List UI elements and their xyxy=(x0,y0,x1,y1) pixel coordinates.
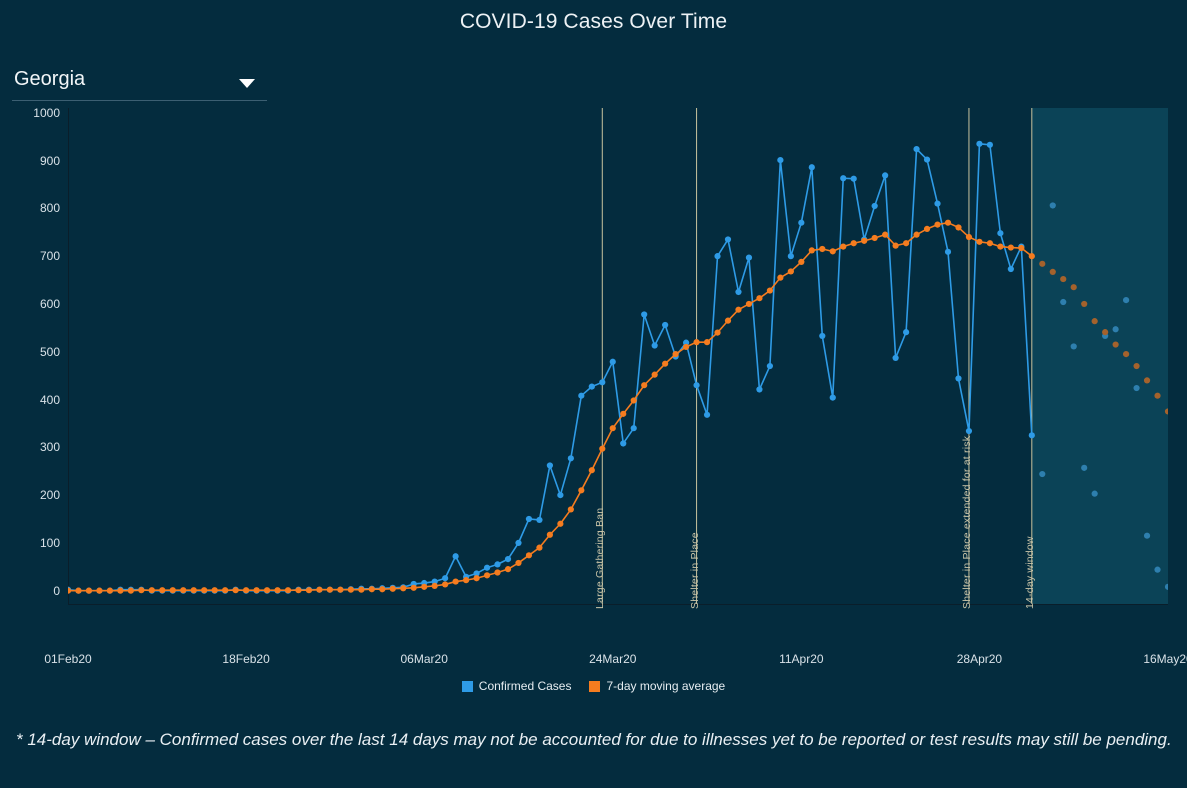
data-point[interactable] xyxy=(767,363,773,369)
data-point[interactable] xyxy=(337,587,343,593)
data-point[interactable] xyxy=(599,379,605,385)
legend-item-moving-average[interactable]: 7-day moving average xyxy=(589,679,725,693)
data-point[interactable] xyxy=(285,587,291,593)
data-point[interactable] xyxy=(1008,244,1014,250)
data-point[interactable] xyxy=(893,243,899,249)
data-point[interactable] xyxy=(86,588,92,594)
data-point[interactable] xyxy=(107,588,113,594)
data-point[interactable] xyxy=(1050,202,1056,208)
data-point[interactable] xyxy=(1123,351,1129,357)
data-point[interactable] xyxy=(641,311,647,317)
data-point[interactable] xyxy=(348,587,354,593)
data-point[interactable] xyxy=(526,552,532,558)
legend-label-confirmed: Confirmed Cases xyxy=(479,679,572,693)
data-point[interactable] xyxy=(505,566,511,572)
data-point[interactable] xyxy=(358,587,364,593)
x-tick-label: 11Apr20 xyxy=(779,652,823,666)
data-point[interactable] xyxy=(756,386,762,392)
data-point[interactable] xyxy=(212,587,218,593)
data-point[interactable] xyxy=(494,569,500,575)
data-point[interactable] xyxy=(515,560,521,566)
data-point[interactable] xyxy=(997,230,1003,236)
data-point[interactable] xyxy=(1113,341,1119,347)
data-point[interactable] xyxy=(809,164,815,170)
data-point[interactable] xyxy=(903,329,909,335)
data-point[interactable] xyxy=(1018,245,1024,251)
x-tick-label: 24Mar20 xyxy=(589,652,636,666)
data-point[interactable] xyxy=(1123,297,1129,303)
annotation-label: Large Gathering Ban xyxy=(594,508,606,609)
data-point[interactable] xyxy=(987,240,993,246)
data-point[interactable] xyxy=(264,587,270,593)
data-point[interactable] xyxy=(369,586,375,592)
y-tick-label: 100 xyxy=(14,536,60,550)
data-point[interactable] xyxy=(872,235,878,241)
data-point[interactable] xyxy=(568,506,574,512)
data-point[interactable] xyxy=(1008,266,1014,272)
y-tick-label: 400 xyxy=(14,393,60,407)
data-point[interactable] xyxy=(578,393,584,399)
data-point[interactable] xyxy=(631,397,637,403)
data-point[interactable] xyxy=(725,318,731,324)
data-point[interactable] xyxy=(557,521,563,527)
data-point[interactable] xyxy=(683,344,689,350)
footnote-text: * 14-day window – Confirmed cases over t… xyxy=(16,727,1174,753)
data-point[interactable] xyxy=(526,516,532,522)
y-tick-label: 800 xyxy=(14,201,60,215)
data-point[interactable] xyxy=(128,588,134,594)
x-tick-label: 28Apr20 xyxy=(957,652,1002,666)
data-point[interactable] xyxy=(1102,329,1108,335)
data-point[interactable] xyxy=(704,412,710,418)
data-point[interactable] xyxy=(819,246,825,252)
data-point[interactable] xyxy=(788,253,794,259)
data-point[interactable] xyxy=(798,220,804,226)
data-point[interactable] xyxy=(379,586,385,592)
data-point[interactable] xyxy=(788,268,794,274)
data-point[interactable] xyxy=(872,203,878,209)
annotation-label: Shelter in Place xyxy=(689,532,701,609)
data-point[interactable] xyxy=(934,200,940,206)
chart-legend: Confirmed Cases 7-day moving average xyxy=(0,679,1187,693)
data-point[interactable] xyxy=(1144,377,1150,383)
data-point[interactable] xyxy=(851,176,857,182)
data-point[interactable] xyxy=(777,275,783,281)
legend-item-confirmed-cases[interactable]: Confirmed Cases xyxy=(462,679,572,693)
data-point[interactable] xyxy=(735,307,741,313)
data-point[interactable] xyxy=(714,253,720,259)
data-point[interactable] xyxy=(777,157,783,163)
data-point[interactable] xyxy=(934,222,940,228)
data-point[interactable] xyxy=(1071,284,1077,290)
data-point[interactable] xyxy=(547,532,553,538)
data-point[interactable] xyxy=(767,287,773,293)
data-point[interactable] xyxy=(159,587,165,593)
data-point[interactable] xyxy=(138,587,144,593)
data-point[interactable] xyxy=(652,342,658,348)
data-point[interactable] xyxy=(1060,276,1066,282)
data-point[interactable] xyxy=(830,248,836,254)
data-point[interactable] xyxy=(652,372,658,378)
data-point[interactable] xyxy=(117,588,123,594)
data-point[interactable] xyxy=(955,224,961,230)
data-point[interactable] xyxy=(515,540,521,546)
data-point[interactable] xyxy=(620,411,626,417)
data-point[interactable] xyxy=(725,236,731,242)
data-point[interactable] xyxy=(830,395,836,401)
data-point[interactable] xyxy=(536,517,542,523)
x-tick-label: 16May20 xyxy=(1143,652,1187,666)
data-point[interactable] xyxy=(1050,269,1056,275)
x-tick-label: 01Feb20 xyxy=(44,652,91,666)
data-point[interactable] xyxy=(924,226,930,232)
data-point[interactable] xyxy=(1092,491,1098,497)
data-point[interactable] xyxy=(327,587,333,593)
data-point[interactable] xyxy=(1071,343,1077,349)
data-point[interactable] xyxy=(610,359,616,365)
data-point[interactable] xyxy=(976,141,982,147)
data-point[interactable] xyxy=(170,587,176,593)
data-point[interactable] xyxy=(180,587,186,593)
region-dropdown-value: Georgia xyxy=(14,68,85,91)
data-point[interactable] xyxy=(557,492,563,498)
data-point[interactable] xyxy=(840,175,846,181)
data-point[interactable] xyxy=(316,587,322,593)
data-point[interactable] xyxy=(442,581,448,587)
y-tick-label: 700 xyxy=(14,249,60,263)
data-point[interactable] xyxy=(1092,318,1098,324)
y-axis: 01002003004005006007008009001000 xyxy=(10,108,60,605)
data-point[interactable] xyxy=(1144,533,1150,539)
data-point[interactable] xyxy=(1113,326,1119,332)
x-tick-label: 18Feb20 xyxy=(222,652,269,666)
data-point[interactable] xyxy=(453,578,459,584)
data-point[interactable] xyxy=(589,384,595,390)
data-point[interactable] xyxy=(306,587,312,593)
data-point[interactable] xyxy=(819,333,825,339)
data-point[interactable] xyxy=(201,587,207,593)
data-point[interactable] xyxy=(1029,253,1035,259)
y-tick-label: 900 xyxy=(14,154,60,168)
data-point[interactable] xyxy=(1039,261,1045,267)
data-point[interactable] xyxy=(494,561,500,567)
data-point[interactable] xyxy=(1133,385,1139,391)
data-point[interactable] xyxy=(746,254,752,260)
x-tick-label: 06Mar20 xyxy=(401,652,448,666)
shaded-14-day-window xyxy=(1032,108,1168,605)
data-point[interactable] xyxy=(714,330,720,336)
data-point[interactable] xyxy=(578,487,584,493)
data-point[interactable] xyxy=(1039,471,1045,477)
data-point[interactable] xyxy=(673,351,679,357)
data-point[interactable] xyxy=(955,375,961,381)
data-point[interactable] xyxy=(222,587,228,593)
data-point[interactable] xyxy=(861,238,867,244)
data-point[interactable] xyxy=(851,240,857,246)
data-point[interactable] xyxy=(233,587,239,593)
data-point[interactable] xyxy=(976,239,982,245)
data-point[interactable] xyxy=(997,243,1003,249)
chevron-down-icon xyxy=(239,79,255,88)
data-point[interactable] xyxy=(798,259,804,265)
y-tick-label: 500 xyxy=(14,345,60,359)
data-point[interactable] xyxy=(96,588,102,594)
region-dropdown[interactable]: Georgia xyxy=(12,66,267,101)
data-point[interactable] xyxy=(149,587,155,593)
data-point[interactable] xyxy=(1133,363,1139,369)
data-point[interactable] xyxy=(882,172,888,178)
data-point[interactable] xyxy=(191,587,197,593)
data-point[interactable] xyxy=(473,575,479,581)
data-point[interactable] xyxy=(1029,432,1035,438)
y-tick-label: 300 xyxy=(14,440,60,454)
annotation-label: Shelter in Place extended for at risk xyxy=(961,436,973,609)
data-point[interactable] xyxy=(421,584,427,590)
data-point[interactable] xyxy=(756,295,762,301)
data-point[interactable] xyxy=(1154,393,1160,399)
data-point[interactable] xyxy=(945,220,951,226)
data-point[interactable] xyxy=(463,577,469,583)
data-point[interactable] xyxy=(987,142,993,148)
data-point[interactable] xyxy=(453,553,459,559)
data-point[interactable] xyxy=(693,382,699,388)
data-point[interactable] xyxy=(662,361,668,367)
data-point[interactable] xyxy=(400,585,406,591)
data-point[interactable] xyxy=(966,234,972,240)
data-point[interactable] xyxy=(484,572,490,578)
data-point[interactable] xyxy=(243,587,249,593)
data-point[interactable] xyxy=(589,467,595,473)
data-point[interactable] xyxy=(641,382,647,388)
chart-svg xyxy=(68,108,1168,605)
annotation-label: 14-day window xyxy=(1024,536,1036,609)
data-point[interactable] xyxy=(746,301,752,307)
data-point[interactable] xyxy=(432,583,438,589)
data-point[interactable] xyxy=(924,157,930,163)
legend-label-moving-average: 7-day moving average xyxy=(606,679,725,693)
data-point[interactable] xyxy=(945,249,951,255)
legend-swatch-confirmed xyxy=(462,681,473,692)
data-point[interactable] xyxy=(662,322,668,328)
data-point[interactable] xyxy=(1081,301,1087,307)
data-point[interactable] xyxy=(568,455,574,461)
data-point[interactable] xyxy=(253,587,259,593)
data-point[interactable] xyxy=(620,440,626,446)
data-point[interactable] xyxy=(536,545,542,551)
data-point[interactable] xyxy=(610,425,616,431)
data-point[interactable] xyxy=(631,425,637,431)
data-point[interactable] xyxy=(913,146,919,152)
y-tick-label: 1000 xyxy=(14,106,60,120)
series-line xyxy=(68,144,1032,591)
data-point[interactable] xyxy=(295,587,301,593)
page-title: COVID-19 Cases Over Time xyxy=(0,10,1187,34)
data-point[interactable] xyxy=(274,587,280,593)
data-point[interactable] xyxy=(390,586,396,592)
data-point[interactable] xyxy=(913,232,919,238)
legend-swatch-moving-average xyxy=(589,681,600,692)
data-point[interactable] xyxy=(1081,465,1087,471)
data-point[interactable] xyxy=(484,565,490,571)
data-point[interactable] xyxy=(735,289,741,295)
chart-plot-area: Large Gathering BanShelter in PlaceShelt… xyxy=(68,108,1168,605)
data-point[interactable] xyxy=(966,428,972,434)
data-point[interactable] xyxy=(1060,299,1066,305)
data-point[interactable] xyxy=(505,556,511,562)
data-point[interactable] xyxy=(599,446,605,452)
data-point[interactable] xyxy=(893,355,899,361)
y-tick-label: 0 xyxy=(14,584,60,598)
data-point[interactable] xyxy=(693,339,699,345)
x-axis: 01Feb2018Feb2006Mar2024Mar2011Apr2028Apr… xyxy=(0,652,1187,672)
data-point[interactable] xyxy=(840,243,846,249)
data-point[interactable] xyxy=(1154,567,1160,573)
data-point[interactable] xyxy=(903,240,909,246)
data-point[interactable] xyxy=(704,339,710,345)
data-point[interactable] xyxy=(809,247,815,253)
y-tick-label: 200 xyxy=(14,488,60,502)
data-point[interactable] xyxy=(75,588,81,594)
y-tick-label: 600 xyxy=(14,297,60,311)
data-point[interactable] xyxy=(411,585,417,591)
data-point[interactable] xyxy=(442,575,448,581)
data-point[interactable] xyxy=(882,232,888,238)
data-point[interactable] xyxy=(547,462,553,468)
